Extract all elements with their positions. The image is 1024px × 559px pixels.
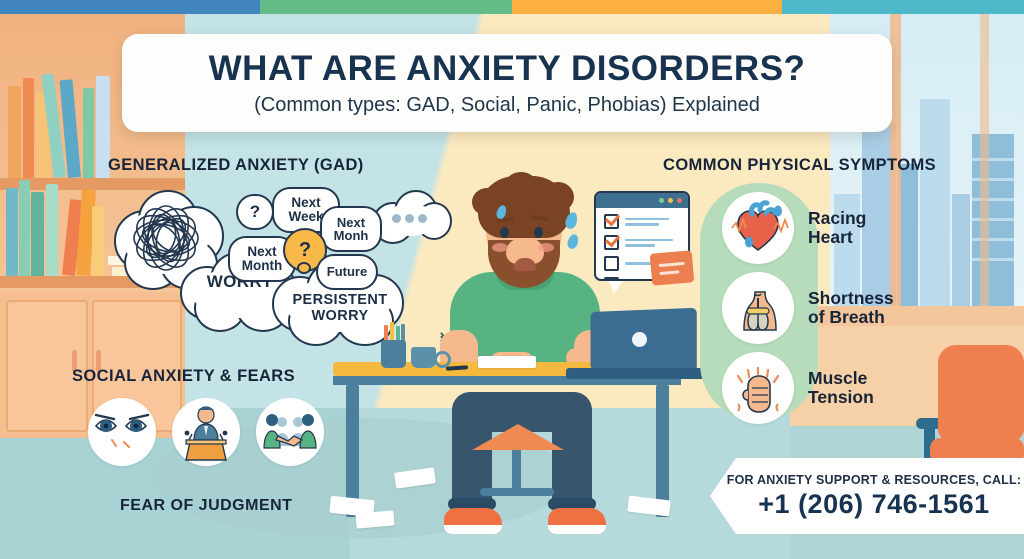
top-strip-teal (782, 0, 1024, 14)
bubble-future: Future (316, 254, 378, 290)
office-chair-back (938, 345, 1024, 441)
hair-lobe (542, 182, 574, 212)
hair-lobe (504, 172, 538, 202)
heart-icon (722, 192, 794, 264)
desk-chair-base (480, 488, 554, 496)
bubble-next-monh: Next Monh (320, 206, 382, 252)
contact-banner[interactable]: FOR ANXIETY SUPPORT & RESOURCES, CALL: +… (710, 458, 1024, 534)
shoe-left (444, 508, 502, 534)
checklist-row (604, 235, 688, 250)
pencil-cup (381, 340, 406, 368)
window-dot-green (659, 198, 664, 203)
desk-leg-right (656, 385, 669, 517)
symptom-racing-heart: Racing Heart (722, 192, 866, 264)
bubble-question-small: ? (236, 194, 274, 230)
checklist-title-bar (596, 193, 688, 208)
desk-chair-post (512, 448, 521, 492)
page-title: WHAT ARE ANXIETY DISORDERS? (209, 49, 806, 89)
mug-handle (434, 351, 451, 368)
bubble-highlight-tail (297, 262, 311, 274)
ellipsis-cloud (372, 188, 448, 250)
window-dot-yellow (668, 198, 673, 203)
cheek-right (538, 243, 554, 252)
hips (452, 392, 592, 432)
window-dot-red (677, 198, 682, 203)
title-card: WHAT ARE ANXIETY DISORDERS? (Common type… (122, 34, 892, 132)
shoe-right (548, 508, 606, 534)
lungs-icon (722, 272, 794, 344)
mouth (514, 258, 536, 271)
checkbox-empty (604, 256, 619, 271)
top-strip-orange (512, 0, 782, 14)
eye-right (534, 227, 543, 238)
symptom-muscle-tension: Muscle Tension (722, 352, 874, 424)
banner-phone-number[interactable]: +1 (206) 746-1561 (758, 489, 989, 520)
heading-generalized-anxiety: GENERALIZED ANXIETY (GAD) (108, 156, 364, 175)
checkbox-empty (604, 277, 619, 281)
eye-left (500, 227, 509, 238)
label-fear-of-judgment: FEAR OF JUDGMENT (120, 497, 292, 515)
heading-social-anxiety: SOCIAL ANXIETY & FEARS (72, 367, 295, 386)
page-subtitle: (Common types: GAD, Social, Panic, Phobi… (254, 94, 760, 117)
cheek-left (492, 243, 508, 252)
top-strip-green (260, 0, 512, 14)
infographic-canvas: WORRY PERSISTENTWORRY ? Next Week Next M… (0, 0, 1024, 559)
symptom-label: Racing Heart (808, 209, 866, 247)
symptom-shortness-of-breath: Shortness of Breath (722, 272, 894, 344)
checkbox-checked (604, 235, 619, 250)
handshake-icon (256, 398, 324, 466)
public-speaking-icon (172, 398, 240, 466)
persistent-worry-label: PERSISTENTWORRY (280, 292, 400, 324)
heading-physical-symptoms: COMMON PHYSICAL SYMPTOMS (663, 156, 936, 175)
banner-cta-text: FOR ANXIETY SUPPORT & RESOURCES, CALL: (727, 473, 1021, 487)
symptom-label: Shortness of Breath (808, 289, 894, 327)
symptom-label: Muscle Tension (808, 369, 874, 407)
paper-on-desk (478, 356, 536, 368)
laptop-base (566, 368, 706, 379)
judging-eyes-icon (88, 398, 156, 466)
fist-icon (722, 352, 794, 424)
top-strip-blue (0, 0, 260, 14)
checklist-row (604, 214, 688, 229)
coffee-mug (411, 347, 436, 368)
laptop-logo (632, 332, 647, 347)
checkbox-checked (604, 214, 619, 229)
orange-note-card (650, 250, 695, 286)
